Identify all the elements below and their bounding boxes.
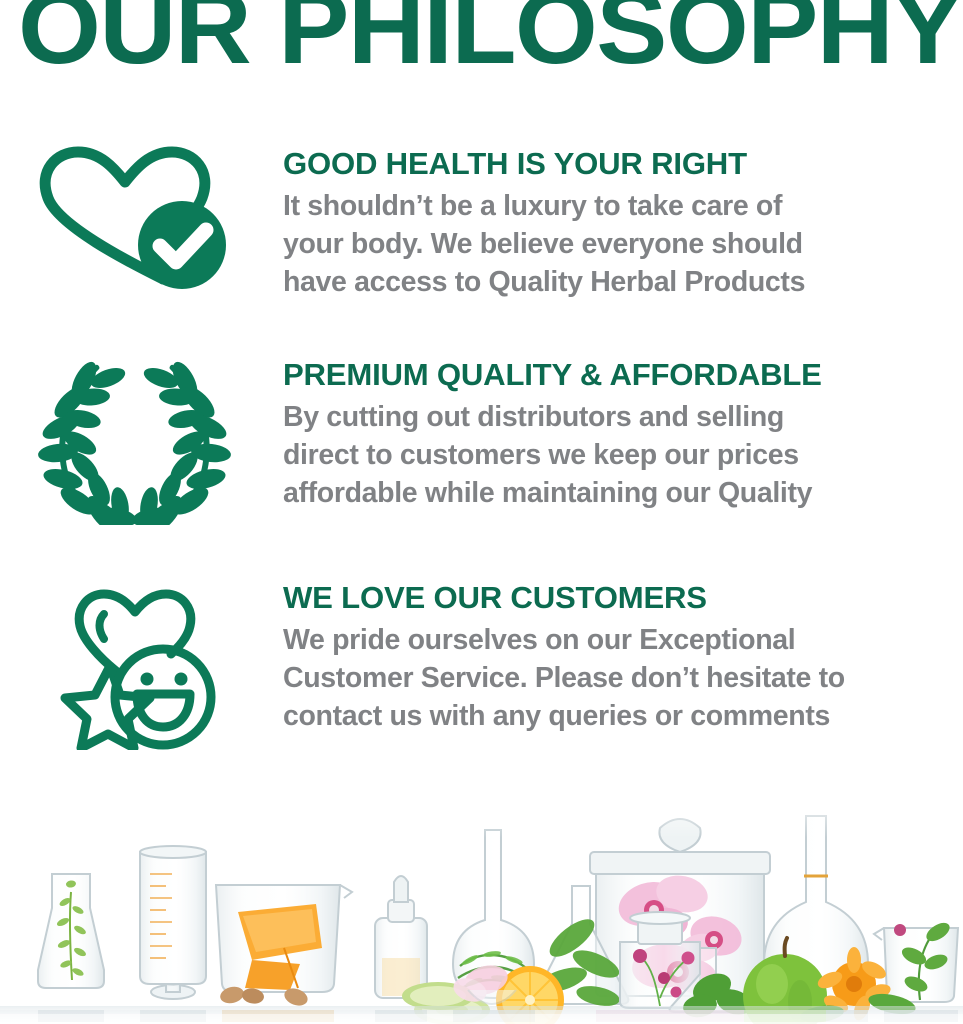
- feature-body-line: your body. We believe everyone should: [283, 225, 953, 263]
- feature-body-line: contact us with any queries or comments: [283, 697, 953, 735]
- laurel-wreath-icon: [32, 353, 237, 525]
- feature-heading: PREMIUM QUALITY & AFFORDABLE: [283, 359, 963, 392]
- feature-body-line: Customer Service. Please don’t hesitate …: [283, 659, 953, 697]
- feature-body: By cutting out distributors and selling …: [283, 398, 953, 512]
- heart-check-icon: [30, 146, 238, 296]
- feature-text-good-health: GOOD HEALTH IS YOUR RIGHT It shouldn’t b…: [283, 148, 953, 301]
- feature-body-line: direct to customers we keep our prices: [283, 436, 953, 474]
- laboratory-glassware-botanicals-photo: 250mL: [0, 752, 963, 1024]
- feature-body-line: By cutting out distributors and selling: [283, 398, 953, 436]
- feature-body-line: We pride ourselves on our Exceptional: [283, 621, 953, 659]
- heart-star-smiley-icon: [34, 582, 234, 750]
- feature-body-line: affordable while maintaining our Quality: [283, 474, 953, 512]
- feature-text-we-love-customers: WE LOVE OUR CUSTOMERS We pride ourselves…: [283, 582, 953, 735]
- feature-heading: GOOD HEALTH IS YOUR RIGHT: [283, 148, 963, 181]
- feature-body-line: It shouldn’t be a luxury to take care of: [283, 187, 953, 225]
- feature-body: It shouldn’t be a luxury to take care of…: [283, 187, 953, 301]
- feature-body-line: have access to Quality Herbal Products: [283, 263, 953, 301]
- feature-text-premium-quality: PREMIUM QUALITY & AFFORDABLE By cutting …: [283, 359, 953, 512]
- feature-heading: WE LOVE OUR CUSTOMERS: [283, 582, 963, 615]
- page-title: OUR PHILOSOPHY: [18, 0, 963, 79]
- philosophy-page: OUR PHILOSOPHY GOOD HEALTH IS YOUR RIGHT…: [0, 0, 963, 1024]
- feature-body: We pride ourselves on our Exceptional Cu…: [283, 621, 953, 735]
